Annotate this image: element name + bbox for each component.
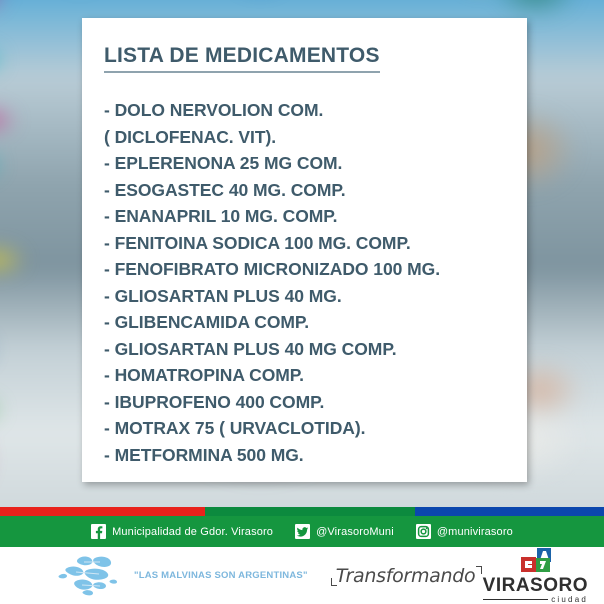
list-item: - HOMATROPINA COMP. [104,362,507,389]
medication-list: - DOLO NERVOLION COM. ( DICLOFENAC. VIT)… [104,97,507,468]
virasoro-subtitle: ciudad [551,596,588,604]
transformando-logo: Transformando [336,565,476,587]
facebook-icon[interactable] [91,524,106,539]
list-item: - GLIOSARTAN PLUS 40 MG COMP. [104,336,507,363]
list-item: - ENANAPRIL 10 MG. COMP. [104,203,507,230]
virasoro-mark-icon [507,548,563,575]
virasoro-name: VIRASORO [483,576,588,595]
malvinas-slogan: "LAS MALVINAS SON ARGENTINAS" [134,570,308,581]
social-item-facebook[interactable]: Municipalidad de Gdor. Virasoro [91,524,273,539]
divider [483,599,549,601]
list-item: - DOLO NERVOLION COM. [104,97,507,124]
tricolor-segment-blue [415,507,604,516]
malvinas-map-icon [54,553,128,599]
list-item: - FENITOINA SODICA 100 MG. COMP. [104,230,507,257]
tricolor-strip [0,507,604,516]
bracket-left-icon [331,578,337,586]
transformando-text: Transformando [336,565,476,587]
footer: "LAS MALVINAS SON ARGENTINAS" Transforma… [0,547,604,604]
medication-card-inner: LISTA DE MEDICAMENTOS - DOLO NERVOLION C… [82,18,527,468]
list-item: - IBUPROFENO 400 COMP. [104,389,507,416]
medication-card: LISTA DE MEDICAMENTOS - DOLO NERVOLION C… [82,18,527,482]
social-bar: Municipalidad de Gdor. Virasoro @Virasor… [0,516,604,547]
list-item: - MOTRAX 75 ( URVACLOTIDA). [104,415,507,442]
twitter-icon[interactable] [295,524,310,539]
social-label-twitter: @VirasoroMuni [316,526,394,538]
page-title: LISTA DE MEDICAMENTOS [104,44,380,73]
bracket-right-icon [476,566,482,574]
malvinas-block: "LAS MALVINAS SON ARGENTINAS" [54,553,308,599]
tricolor-segment-green [205,507,415,516]
tricolor-segment-red [0,507,205,516]
virasoro-sub-row: ciudad [483,596,588,604]
social-item-instagram[interactable]: @munivirasoro [416,524,513,539]
social-label-instagram: @munivirasoro [437,526,513,538]
list-item: - ESOGASTEC 40 MG. COMP. [104,177,507,204]
social-item-twitter[interactable]: @VirasoroMuni [295,524,394,539]
poster-root: LISTA DE MEDICAMENTOS - DOLO NERVOLION C… [0,0,604,604]
list-item: - FENOFIBRATO MICRONIZADO 100 MG. [104,256,507,283]
list-item: - EPLERENONA 25 MG COM. [104,150,507,177]
list-item: ( DICLOFENAC. VIT). [104,124,507,151]
social-label-facebook: Municipalidad de Gdor. Virasoro [112,526,273,538]
virasoro-logo: VIRASORO ciudad [483,548,588,604]
list-item: - GLIOSARTAN PLUS 40 MG. [104,283,507,310]
list-item: - GLIBENCAMIDA COMP. [104,309,507,336]
list-item: - METFORMINA 500 MG. [104,442,507,469]
instagram-icon[interactable] [416,524,431,539]
